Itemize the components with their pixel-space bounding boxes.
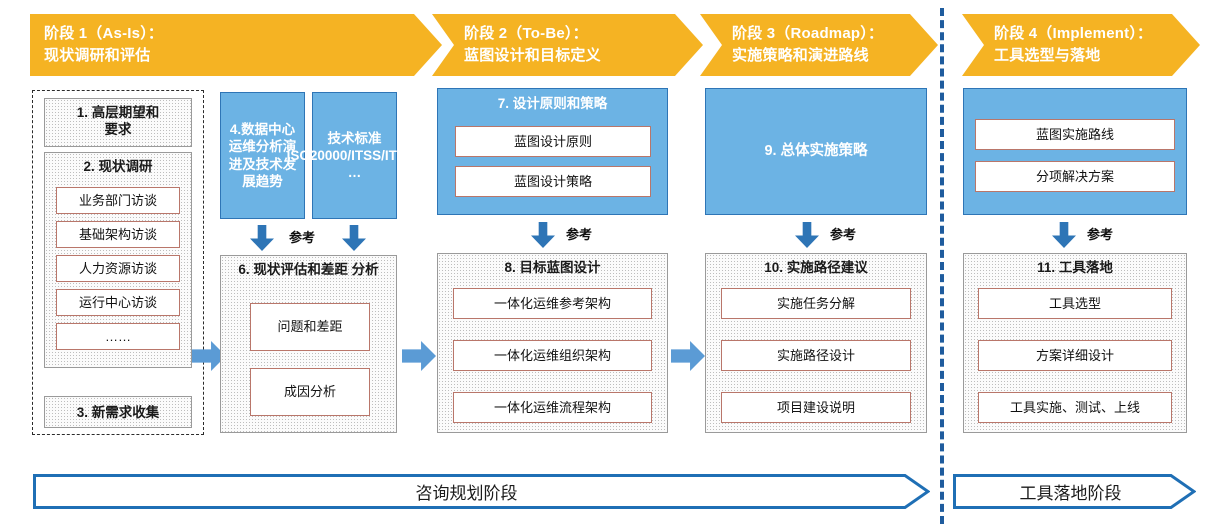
phase-banner-3[interactable]: 阶段 3（Roadmap）： 实施策略和演进路线 [700, 14, 938, 76]
col4-item-0[interactable]: 实施任务分解 [721, 288, 911, 319]
col4-blue[interactable]: 9. 总体实施策略 [705, 88, 927, 215]
col5-box-title: 11. 工具落地 [964, 260, 1186, 277]
col3-blue-title: 7. 设计原则和策略 [438, 95, 667, 112]
bottom-banner-right-label: 工具落地阶段 [1020, 479, 1122, 504]
col3-item-0[interactable]: 一体化运维参考架构 [453, 288, 652, 319]
col4-box-title: 10. 实施路径建议 [706, 260, 926, 277]
ref-arrow-col2-right [342, 225, 366, 251]
col1-box-1-title: 1. 高层期望和 要求 [45, 105, 191, 139]
col3-blue-item-0[interactable]: 蓝图设计原则 [455, 126, 651, 157]
ref-arrow-col3 [531, 222, 555, 248]
ref-label-col5: 参考 [1086, 228, 1114, 241]
ref-label-col2: 参考 [288, 231, 316, 244]
col1-item-1[interactable]: 基础架构访谈 [56, 221, 180, 248]
col1-box-2-title: 2. 现状调研 [45, 159, 191, 176]
flow-arrow-3 [671, 341, 705, 371]
col3-item-1[interactable]: 一体化运维组织架构 [453, 340, 652, 371]
col2-blue-right[interactable]: 技术标准ISO20000/ITSS/ITIL… … [312, 92, 397, 219]
col2-box-title: 6. 现状评估和差距 分析 [221, 262, 396, 279]
col2-item-0[interactable]: 问题和差距 [250, 303, 370, 351]
ref-arrow-col2-left [250, 225, 274, 251]
flow-arrow-2 [402, 341, 436, 371]
col3-box-title: 8. 目标蓝图设计 [438, 260, 667, 277]
col1-box-3[interactable]: 3. 新需求收集 [44, 396, 192, 428]
col1-box-1[interactable]: 1. 高层期望和 要求 [44, 98, 192, 147]
col5-item-2[interactable]: 工具实施、测试、上线 [978, 392, 1172, 423]
phase-banner-2[interactable]: 阶段 2（To-Be）： 蓝图设计和目标定义 [432, 14, 703, 76]
col1-item-3[interactable]: 运行中心访谈 [56, 289, 180, 316]
bottom-banner-left[interactable]: 咨询规划阶段 [33, 474, 930, 509]
col5-blue[interactable] [963, 88, 1187, 215]
col5-blue-item-0[interactable]: 蓝图实施路线 [975, 119, 1175, 150]
ref-arrow-col4 [795, 222, 819, 248]
col5-item-1[interactable]: 方案详细设计 [978, 340, 1172, 371]
bottom-banner-right[interactable]: 工具落地阶段 [953, 474, 1196, 509]
col3-item-2[interactable]: 一体化运维流程架构 [453, 392, 652, 423]
ref-label-col3: 参考 [565, 228, 593, 241]
phase-divider [940, 8, 944, 524]
col1-item-2[interactable]: 人力资源访谈 [56, 255, 180, 282]
phase-banner-1[interactable]: 阶段 1（As-Is）： 现状调研和评估 [30, 14, 442, 76]
ref-label-col4: 参考 [829, 228, 857, 241]
col1-item-0[interactable]: 业务部门访谈 [56, 187, 180, 214]
diagram-canvas: 阶段 1（As-Is）： 现状调研和评估 阶段 2（To-Be）： 蓝图设计和目… [0, 0, 1217, 530]
col4-item-1[interactable]: 实施路径设计 [721, 340, 911, 371]
col1-item-4[interactable]: …… [56, 323, 180, 350]
ref-arrow-col5 [1052, 222, 1076, 248]
col4-item-2[interactable]: 项目建设说明 [721, 392, 911, 423]
col5-blue-item-1[interactable]: 分项解决方案 [975, 161, 1175, 192]
col1-box-3-title: 3. 新需求收集 [45, 405, 191, 422]
col5-item-0[interactable]: 工具选型 [978, 288, 1172, 319]
phase-banner-4[interactable]: 阶段 4（Implement）： 工具选型与落地 [962, 14, 1200, 76]
col3-blue-item-1[interactable]: 蓝图设计策略 [455, 166, 651, 197]
bottom-banner-left-label: 咨询规划阶段 [416, 479, 518, 504]
col2-item-1[interactable]: 成因分析 [250, 368, 370, 416]
